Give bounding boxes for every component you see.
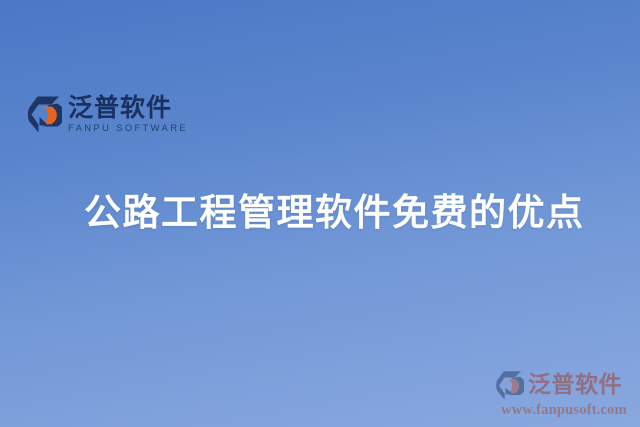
fanpu-watermark-mark-icon xyxy=(494,370,524,401)
brand-logo-text: 泛普软件 FANPU SOFTWARE xyxy=(68,94,188,135)
watermark: 泛普软件 www.fanpusoft.com xyxy=(494,369,634,419)
watermark-url: www.fanpusoft.com xyxy=(494,402,634,419)
fanpu-logo-mark-icon xyxy=(26,95,62,134)
brand-name-cn: 泛普软件 xyxy=(68,94,188,121)
brand-logo: 泛普软件 FANPU SOFTWARE xyxy=(26,90,188,138)
banner-canvas: 泛普软件 FANPU SOFTWARE 公路工程管理软件免费的优点 泛普软件 w… xyxy=(0,0,640,427)
page-title: 公路工程管理软件免费的优点 xyxy=(84,191,585,235)
watermark-logo-row: 泛普软件 xyxy=(494,369,634,401)
watermark-brand-name: 泛普软件 xyxy=(528,373,622,398)
brand-name-en: FANPU SOFTWARE xyxy=(68,122,188,135)
